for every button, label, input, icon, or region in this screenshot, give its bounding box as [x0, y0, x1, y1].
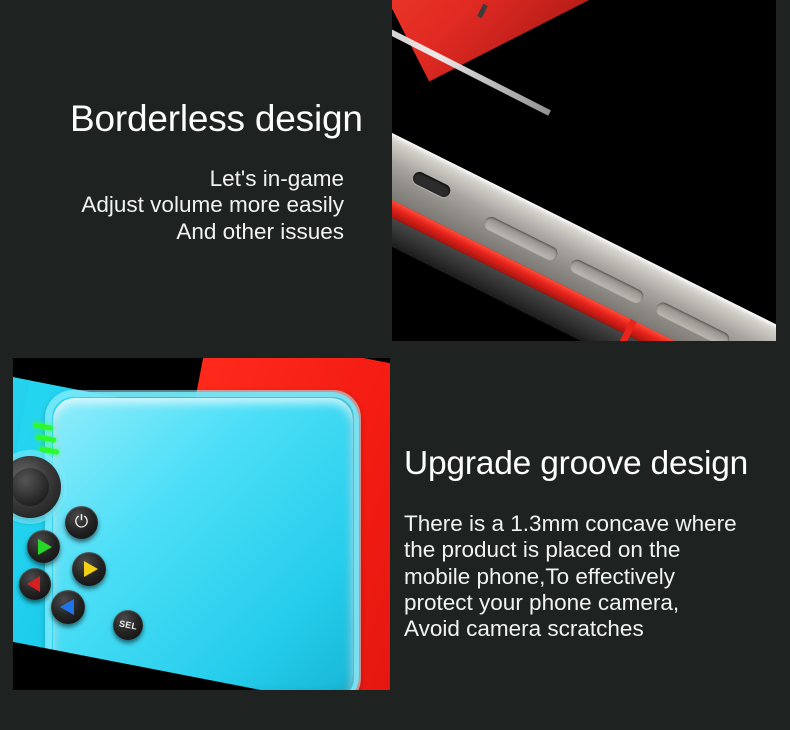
power-button[interactable]: ⏻ — [65, 506, 98, 539]
groove-headline: Upgrade groove design — [404, 445, 748, 483]
controller-groove-photo: ⏻ SEL — [13, 358, 390, 690]
product-feature-page: Borderless design Let's in-game Adjust v… — [0, 0, 790, 730]
arrow-blue-icon — [60, 599, 74, 615]
groove-body-text: There is a 1.3mm concave where the produ… — [404, 511, 788, 643]
dpad-down-button[interactable] — [51, 590, 85, 624]
select-button[interactable]: SEL — [113, 610, 143, 640]
dpad-up-button[interactable] — [27, 530, 60, 563]
groove-body-line-1: There is a 1.3mm concave where — [404, 511, 788, 537]
power-icon: ⏻ — [75, 514, 88, 531]
groove-body-line-3: mobile phone,To effectively — [404, 564, 788, 590]
groove-body-line-4: protect your phone camera, — [404, 590, 788, 616]
arrow-red-icon — [27, 576, 40, 592]
borderless-headline: Borderless design — [70, 98, 363, 140]
arrow-green-icon — [38, 539, 52, 555]
borderless-body-text: Let's in-game Adjust volume more easily … — [20, 166, 344, 245]
groove-body-line-5: Avoid camera scratches — [404, 616, 788, 642]
groove-body-line-2: the product is placed on the — [404, 537, 788, 563]
select-button-label: SEL — [118, 618, 138, 631]
borderless-body-line-3: And other issues — [20, 219, 344, 245]
borderless-body-line-2: Adjust volume more easily — [20, 192, 344, 218]
dpad-left-button[interactable] — [19, 568, 51, 600]
phone-edge-photo — [392, 0, 776, 341]
borderless-body-line-1: Let's in-game — [20, 166, 344, 192]
dpad-right-button[interactable] — [72, 552, 106, 586]
groove-rim — [45, 390, 361, 690]
arrow-yellow-icon — [84, 561, 98, 577]
